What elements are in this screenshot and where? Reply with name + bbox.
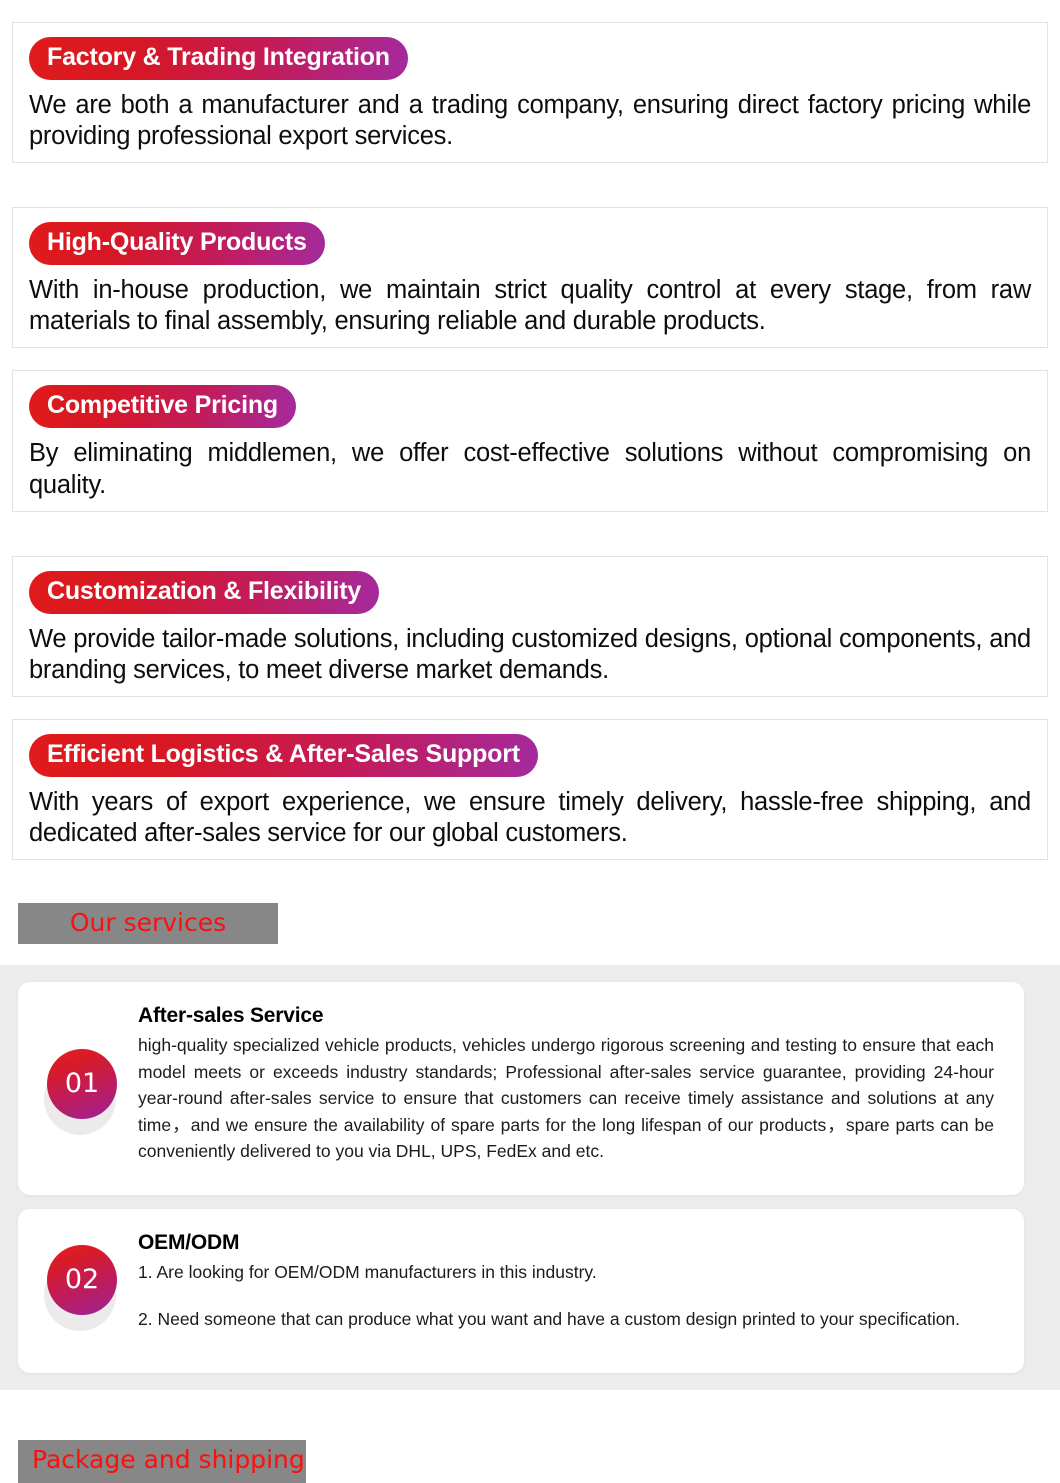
service-paragraph: 1. Are looking for OEM/ODM manufacturers… [138,1259,994,1286]
spacer [0,512,1060,556]
advantage-badge-5: Efficient Logistics & After-Sales Suppor… [29,734,538,777]
advantage-box-5: Efficient Logistics & After-Sales Suppor… [12,719,1048,860]
spacer [0,163,1060,207]
advantage-badge-2: High-Quality Products [29,222,325,265]
advantages-list: Factory & Trading Integration We are bot… [0,0,1060,860]
service-number-2: 02 [47,1245,117,1315]
advantage-text-3: By eliminating middlemen, we offer cost-… [29,438,1031,500]
advantage-badge-4: Customization & Flexibility [29,571,379,614]
advantage-text-2: With in-house production, we maintain st… [29,275,1031,337]
advantage-text-1: We are both a manufacturer and a trading… [29,90,1031,152]
service-title-2: OEM/ODM [138,1231,994,1255]
advantage-text-4: We provide tailor-made solutions, includ… [29,624,1031,686]
section-title-package-shipping: Package and shipping [18,1440,306,1483]
service-number-1: 01 [47,1049,117,1119]
advantage-box-1: Factory & Trading Integration We are bot… [12,22,1048,163]
service-card-body: After-sales Service high-quality special… [138,1004,994,1165]
advantage-box-2: High-Quality Products With in-house prod… [12,207,1048,348]
service-paragraph: high-quality specialized vehicle product… [138,1032,994,1165]
service-card-body: OEM/ODM 1. Are looking for OEM/ODM manuf… [138,1231,994,1332]
spacer [0,697,1060,719]
advantage-box-4: Customization & Flexibility We provide t… [12,556,1048,697]
section-title-our-services: Our services [18,903,278,944]
service-paragraph: 2. Need someone that can produce what yo… [138,1306,994,1333]
spacer [0,348,1060,370]
service-title-1: After-sales Service [138,1004,994,1028]
service-card: 02 OEM/ODM 1. Are looking for OEM/ODM ma… [18,1209,1024,1373]
advantage-text-5: With years of export experience, we ensu… [29,787,1031,849]
services-band: 01 After-sales Service high-quality spec… [0,965,1060,1390]
advantage-badge-1: Factory & Trading Integration [29,37,408,80]
service-number-badge: 01 [42,1049,120,1127]
spacer [0,0,1060,22]
advantage-box-3: Competitive Pricing By eliminating middl… [12,370,1048,511]
service-number-badge: 02 [42,1245,120,1323]
advantage-badge-3: Competitive Pricing [29,385,296,428]
service-card: 01 After-sales Service high-quality spec… [18,982,1024,1195]
